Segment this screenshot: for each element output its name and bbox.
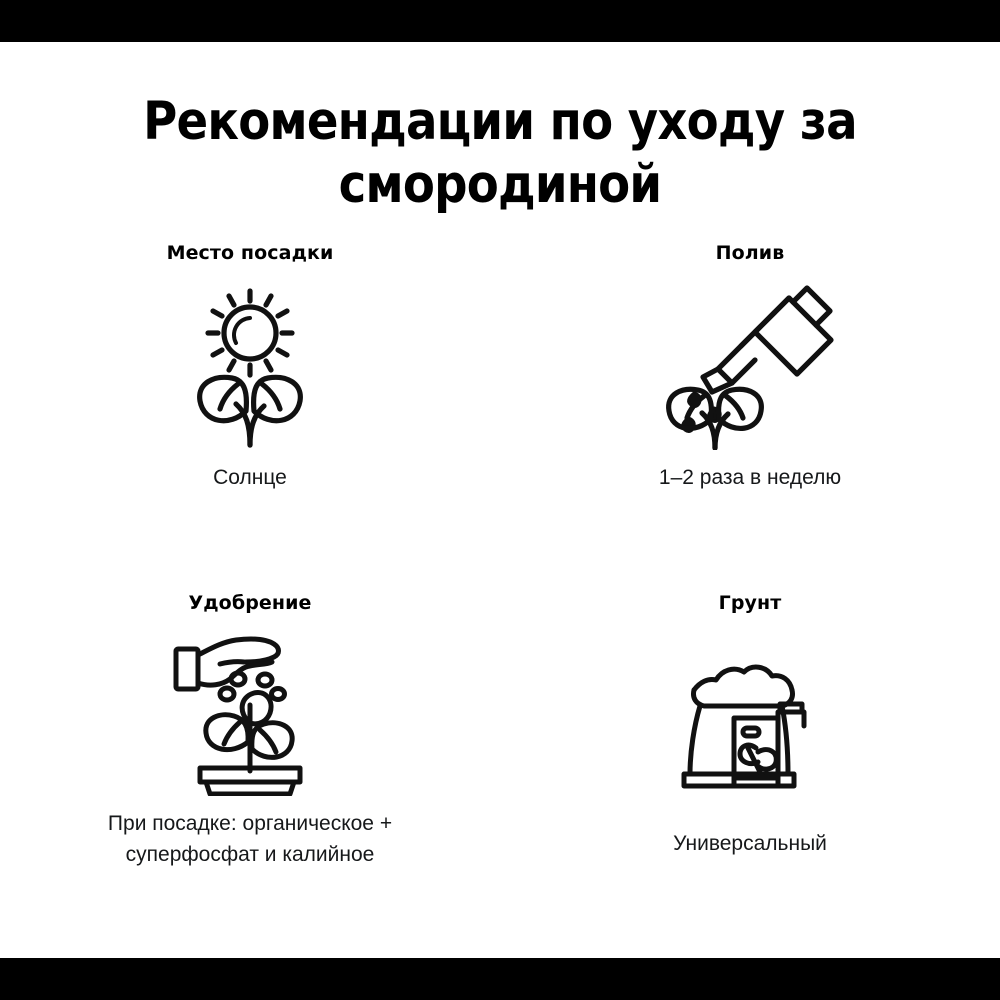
- care-card-watering: Полив: [500, 240, 1000, 590]
- care-card-watering-heading: Полив: [716, 240, 785, 266]
- care-card-soil: Грунт: [500, 590, 1000, 940]
- care-card-soil-caption: Универсальный: [530, 828, 970, 859]
- care-card-fertilizer-caption: При посадке: органическое + суперфосфат …: [30, 808, 470, 870]
- care-card-place-heading: Место посадки: [167, 240, 334, 266]
- soil-sack-bottle-icon: [670, 630, 830, 820]
- care-card-fertilizer: Удобрение: [0, 590, 500, 940]
- infographic-canvas: Рекомендации по уходу за смородиной Мест…: [0, 0, 1000, 1000]
- watering-can-plant-icon: [663, 272, 838, 462]
- care-card-watering-caption: 1–2 раза в неделю: [530, 462, 970, 493]
- care-card-place: Место посадки: [0, 240, 500, 590]
- letterbox-bottom-bar: [0, 958, 1000, 1000]
- letterbox-top-bar: [0, 0, 1000, 42]
- sun-plant-icon: [180, 272, 320, 462]
- care-cards-grid: Место посадки: [0, 240, 1000, 940]
- care-card-fertilizer-heading: Удобрение: [188, 590, 311, 616]
- page-title: Рекомендации по уходу за смородиной: [104, 90, 896, 217]
- care-card-place-caption: Солнце: [30, 462, 470, 493]
- hand-fertilizing-potted-plant-icon: [170, 618, 330, 808]
- care-card-soil-heading: Грунт: [719, 590, 782, 616]
- infographic-sheet: Рекомендации по уходу за смородиной Мест…: [0, 42, 1000, 958]
